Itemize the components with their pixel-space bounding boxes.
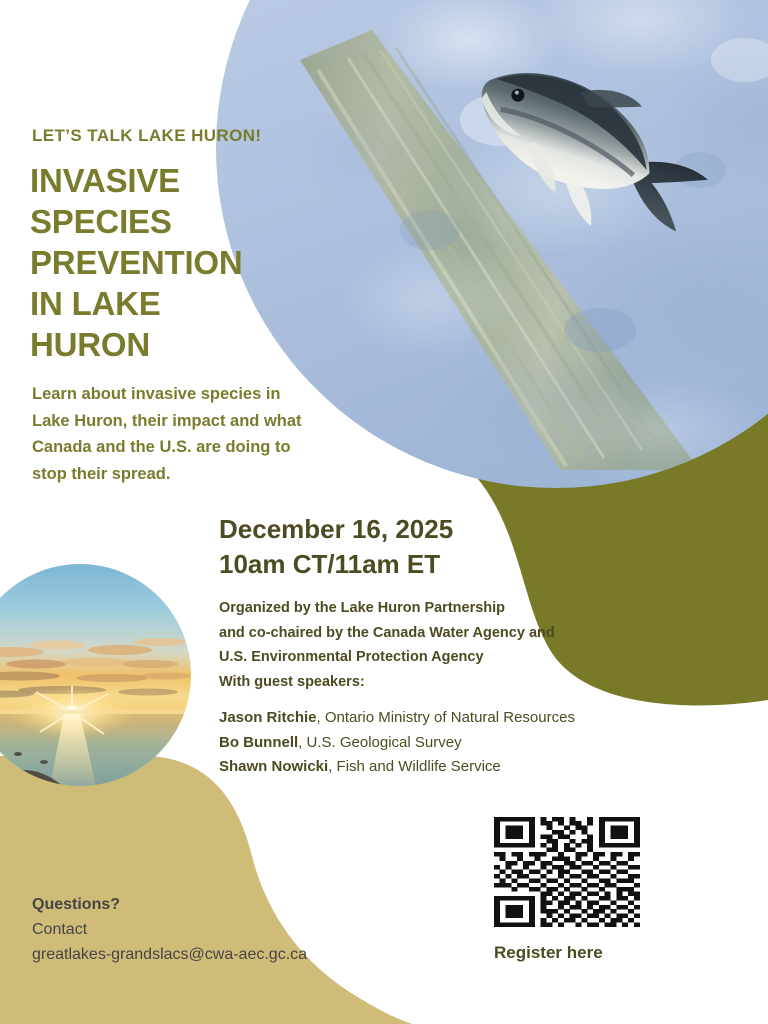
- questions-label: Questions?: [32, 892, 362, 917]
- speakers-list: Jason Ritchie, Ontario Ministry of Natur…: [219, 706, 639, 780]
- speaker-affiliation: , Fish and Wildlife Service: [328, 758, 501, 775]
- headline-line: IN LAKE: [30, 283, 280, 324]
- qr-code-canvas[interactable]: [494, 817, 640, 927]
- organizer-block: Organized by the Lake Huron Partnership …: [219, 596, 619, 670]
- headline-line: HURON: [30, 324, 280, 365]
- qr-code[interactable]: [494, 817, 640, 927]
- organizer-line: U.S. Environmental Protection Agency: [219, 645, 619, 670]
- contact-label: Contact: [32, 917, 362, 942]
- tagline: LET’S TALK LAKE HURON!: [32, 126, 261, 146]
- speakers-heading: With guest speakers:: [219, 674, 365, 690]
- event-datetime: December 16, 2025 10am CT/11am ET: [219, 512, 619, 582]
- organizer-line: Organized by the Lake Huron Partnership: [219, 596, 619, 621]
- list-item: Shawn Nowicki, Fish and Wildlife Service: [219, 755, 639, 780]
- poster-canvas: LET’S TALK LAKE HURON! INVASIVE SPECIES …: [0, 0, 768, 1024]
- headline-line: PREVENTION: [30, 242, 280, 283]
- register-here-label[interactable]: Register here: [494, 943, 603, 963]
- list-item: Bo Bunnell, U.S. Geological Survey: [219, 731, 639, 756]
- headline-line: SPECIES: [30, 201, 280, 242]
- event-date: December 16, 2025: [219, 512, 619, 547]
- sunset-photo-circle: [0, 564, 191, 800]
- fish-illustration: [450, 41, 726, 262]
- list-item: Jason Ritchie, Ontario Ministry of Natur…: [219, 706, 639, 731]
- description-text: Learn about invasive species in Lake Hur…: [32, 381, 310, 487]
- contact-email[interactable]: greatlakes-grandslacs@cwa-aec.gc.ca: [32, 942, 362, 967]
- page-title: INVASIVE SPECIES PREVENTION IN LAKE HURO…: [30, 160, 280, 365]
- speaker-name: Bo Bunnell: [219, 734, 298, 751]
- tan-blob-shape: [0, 756, 412, 1024]
- speaker-name: Jason Ritchie: [219, 709, 317, 726]
- organizer-line: and co-chaired by the Canada Water Agenc…: [219, 621, 619, 646]
- speaker-name: Shawn Nowicki: [219, 758, 328, 775]
- headline-line: INVASIVE: [30, 160, 280, 201]
- speaker-affiliation: , U.S. Geological Survey: [298, 734, 461, 751]
- contact-block: Questions? Contact greatlakes-grandslacs…: [32, 892, 362, 967]
- event-time: 10am CT/11am ET: [219, 547, 619, 582]
- speaker-affiliation: , Ontario Ministry of Natural Resources: [317, 709, 575, 726]
